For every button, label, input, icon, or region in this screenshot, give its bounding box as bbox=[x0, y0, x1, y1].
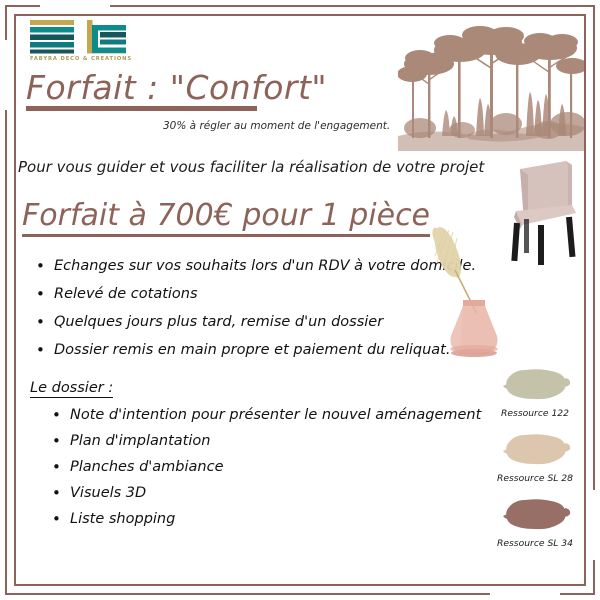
list-item: Echanges sur vos souhaits lors d'un RDV … bbox=[36, 252, 436, 280]
page-title: Forfait : "Confort" bbox=[26, 68, 327, 107]
dossier-heading: Le dossier : bbox=[30, 380, 113, 398]
list-item: Liste shopping bbox=[52, 506, 432, 532]
list-item: Plan d'implantation bbox=[52, 428, 432, 454]
forest-landscape-mural bbox=[398, 24, 584, 151]
paint-swatch-icon bbox=[499, 431, 571, 471]
dossier-list: Note d'intention pour présenter le nouve… bbox=[52, 402, 432, 532]
steps-list: Echanges sur vos souhaits lors d'un RDV … bbox=[36, 252, 436, 364]
pink-glass-vase-with-pampas bbox=[425, 222, 511, 364]
intro-text: Pour vous guider et vous faciliter la ré… bbox=[18, 158, 484, 176]
paint-swatch-icon bbox=[499, 496, 571, 536]
list-item: Planches d'ambiance bbox=[52, 454, 432, 480]
flyer-page: FABYRA DECO & CREATIONS Forfait : "Confo… bbox=[0, 0, 600, 600]
frame-corner-cut-bottom-right-h bbox=[490, 587, 560, 598]
swatch-panel: Ressource 122 Ressource SL 28 Ressource … bbox=[480, 366, 590, 561]
swatch-item: Ressource 122 bbox=[480, 366, 590, 419]
swatch-label: Ressource 122 bbox=[480, 408, 590, 419]
fabyra-logo-mark bbox=[30, 20, 126, 54]
brand-logo-text: FABYRA DECO & CREATIONS bbox=[30, 56, 126, 62]
frame-corner-cut-top-left-v bbox=[2, 40, 13, 110]
payment-note: 30% à régler au moment de l'engagement. bbox=[163, 120, 390, 132]
title-underline bbox=[26, 106, 257, 111]
list-item: Quelques jours plus tard, remise d'un do… bbox=[36, 308, 436, 336]
list-item: Relevé de cotations bbox=[36, 280, 436, 308]
swatch-label: Ressource SL 34 bbox=[480, 538, 590, 549]
swatch-label: Ressource SL 28 bbox=[480, 473, 590, 484]
list-item: Dossier remis en main propre et paiement… bbox=[36, 336, 436, 364]
frame-corner-cut-top-left-h bbox=[40, 2, 110, 13]
list-item: Visuels 3D bbox=[52, 480, 432, 506]
paint-swatch-icon bbox=[499, 366, 571, 406]
list-item: Note d'intention pour présenter le nouve… bbox=[52, 402, 432, 428]
brand-logo: FABYRA DECO & CREATIONS bbox=[30, 20, 126, 62]
price-headline: Forfait à 700€ pour 1 pièce bbox=[22, 198, 430, 237]
swatch-item: Ressource SL 34 bbox=[480, 496, 590, 549]
swatch-item: Ressource SL 28 bbox=[480, 431, 590, 484]
